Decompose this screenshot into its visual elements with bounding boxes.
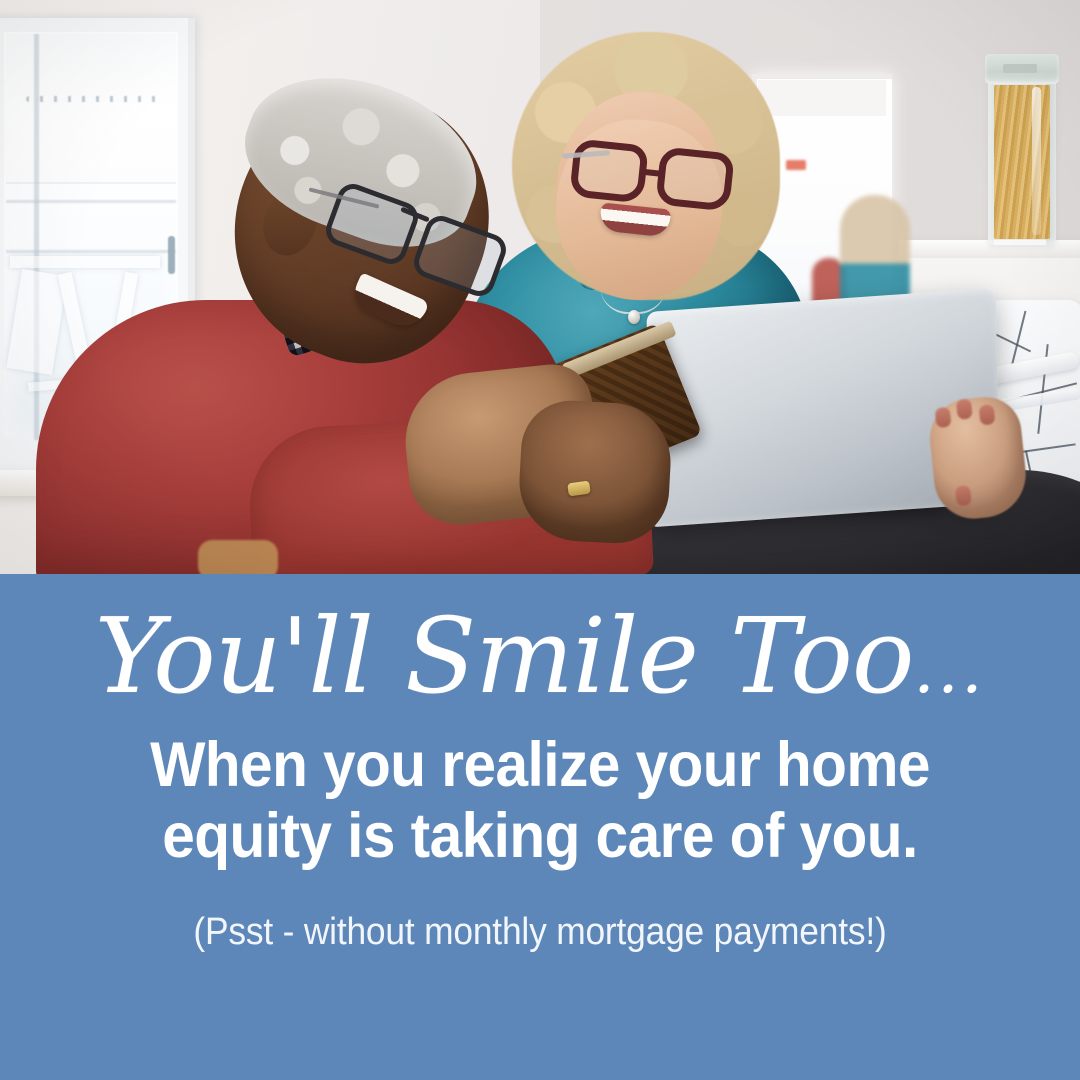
social-graphic-canvas: You'll Smile Too... When you realize you…: [0, 0, 1080, 1080]
blind-perforations: [26, 96, 160, 102]
hero-photo: [0, 0, 1080, 574]
man-sleeve-cuff: [198, 540, 278, 574]
necklace-pendant: [628, 310, 640, 324]
script-headline-ellipsis: ...: [913, 631, 985, 708]
man-hand-right: [516, 398, 673, 546]
window-blind: [6, 34, 176, 184]
tagline: (Psst - without monthly mortgage payment…: [38, 910, 1042, 956]
script-headline-text: You'll Smile Too: [95, 595, 914, 717]
text-panel: You'll Smile Too... When you realize you…: [0, 574, 1080, 1080]
woman-hand: [926, 394, 1030, 523]
doorway-roller-shade: [758, 80, 886, 116]
pasta-jar: [988, 55, 1056, 245]
doorway-red-marker: [786, 160, 806, 170]
window-handle: [168, 236, 175, 274]
headline-line-2: equity is taking care of you.: [38, 801, 1042, 872]
window-mullion-horizontal: [6, 200, 176, 203]
headline-line-1: When you realize your home: [38, 730, 1042, 801]
jar-clamp: [1003, 64, 1037, 73]
headline: When you realize your home equity is tak…: [38, 730, 1042, 872]
jar-glass-highlight: [1032, 87, 1041, 235]
script-headline: You'll Smile Too...: [0, 574, 1080, 708]
pasta-contents: [994, 85, 1050, 239]
jar-lid: [985, 54, 1059, 84]
woman-eyeglass-lens-left: [569, 138, 649, 203]
woman-eyeglass-lens-right: [655, 146, 735, 211]
